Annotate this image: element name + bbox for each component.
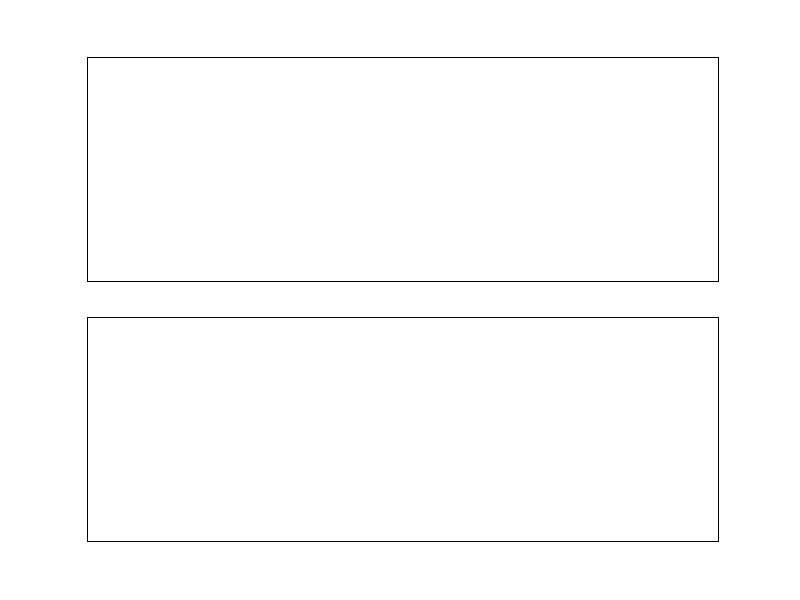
histogram-bars [88, 58, 718, 281]
figure-canvas [0, 0, 800, 600]
bottom-panel-axes [87, 317, 719, 542]
bottom-panel-plot-area [88, 318, 718, 541]
top-panel-plot-area [88, 58, 718, 281]
cumulative-curve [88, 318, 718, 541]
top-panel-axes [87, 57, 719, 282]
